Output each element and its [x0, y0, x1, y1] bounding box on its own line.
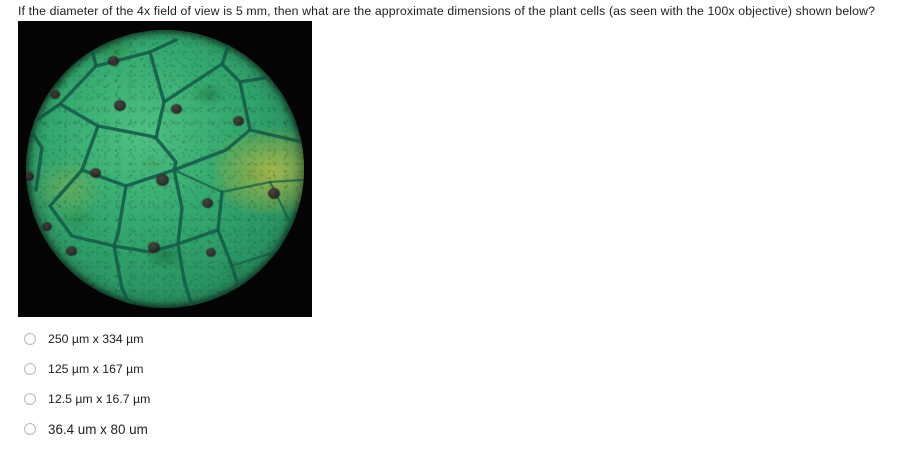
- option-label-d: 36.4 um x 80 um: [48, 422, 148, 437]
- answer-options-list: 250 µm x 334 µm 125 µm x 167 µm 12.5 µm …: [18, 324, 438, 444]
- micrograph-figure: [18, 21, 312, 317]
- question-prompt: If the diameter of the 4x field of view …: [18, 4, 916, 19]
- radio-button-d[interactable]: [24, 423, 36, 435]
- micrograph-image: [18, 21, 312, 317]
- option-row-c[interactable]: 12.5 µm x 16.7 µm: [18, 384, 438, 414]
- radio-button-b[interactable]: [24, 363, 36, 375]
- option-label-b: 125 µm x 167 µm: [48, 362, 144, 376]
- field-of-view-circle: [26, 30, 304, 308]
- radio-button-a[interactable]: [24, 333, 36, 345]
- option-label-c: 12.5 µm x 16.7 µm: [48, 392, 150, 406]
- option-row-d[interactable]: 36.4 um x 80 um: [18, 414, 438, 444]
- option-label-a: 250 µm x 334 µm: [48, 332, 144, 346]
- option-row-a[interactable]: 250 µm x 334 µm: [18, 324, 438, 354]
- option-row-b[interactable]: 125 µm x 167 µm: [18, 354, 438, 384]
- radio-button-c[interactable]: [24, 393, 36, 405]
- field-vignette: [26, 30, 304, 308]
